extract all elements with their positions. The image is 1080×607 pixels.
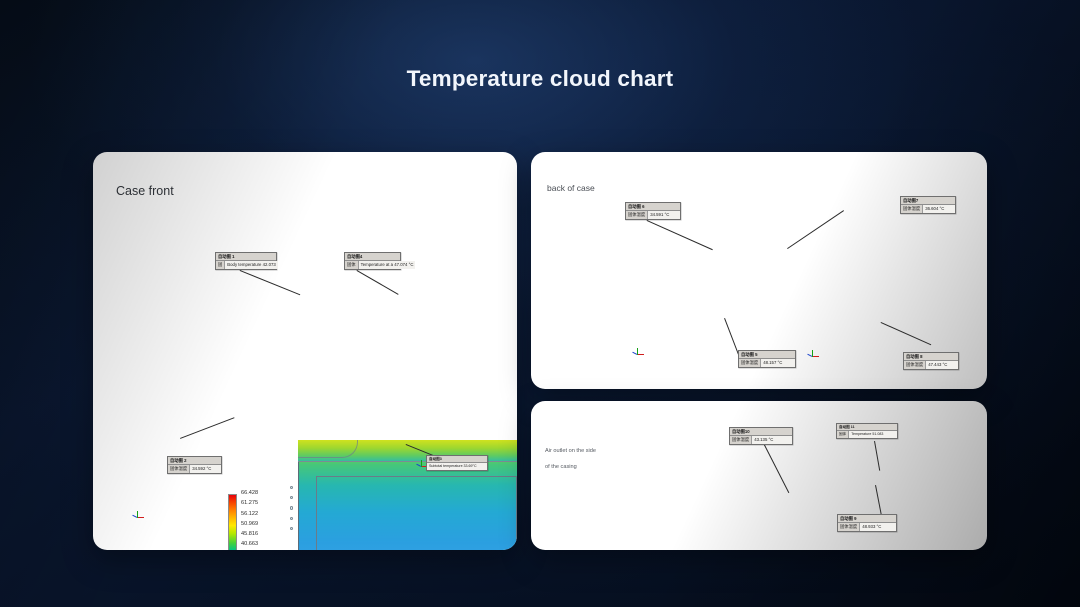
callout-probe-3[interactable]: 自动图3 Subtotal temperature 33.69°C — [426, 455, 488, 471]
leader-line — [357, 270, 399, 294]
tick-value: 61.275 — [241, 501, 258, 507]
panel-label-side-air-outlet: Air outlet on the side of the casing — [545, 443, 596, 475]
callout-title: 自动图 2 — [168, 457, 221, 465]
callout-title: 自动图4 — [345, 253, 400, 261]
callout-key: 固体温度 — [901, 205, 923, 212]
tick-value: 56.122 — [241, 512, 258, 518]
panel-back-of-case[interactable]: back of case 66.428 61.275 56.122 50.969… — [531, 152, 987, 389]
callout-value: 47.443 °C — [926, 361, 958, 368]
callout-key: 固体温度 — [730, 436, 752, 443]
callout-row: 固体温度 34.591 °C — [626, 211, 680, 218]
color-scale-ticks: 66.428 61.275 56.122 50.969 45.816 40.66… — [241, 491, 258, 550]
leader-line — [763, 441, 790, 493]
callout-key: 固体温度 — [739, 359, 761, 366]
callout-value: 48.933 °C — [860, 523, 896, 530]
callout-value: 34.592 °C — [190, 465, 221, 472]
panel-case-front[interactable]: Case front 66.428 61.275 56.122 50.969 4… — [93, 152, 517, 550]
callout-title: 自动图3 — [427, 456, 487, 463]
leader-line — [647, 220, 713, 250]
callout-probe-5[interactable]: 自动图 5 固体温度 48.157 °C — [738, 350, 796, 368]
callout-title: 自动图7 — [901, 197, 955, 205]
callout-row: 固体 Temperature at a 47.074 °C — [345, 261, 400, 268]
callout-key: 固体温度 — [168, 465, 190, 472]
callout-value: Subtotal temperature 33.69°C — [427, 463, 487, 469]
callout-row: 固体温度 48.933 °C — [838, 523, 896, 530]
callout-row: 固体 Temperature 51.083 — [837, 431, 897, 437]
callout-row: 固体温度 34.592 °C — [168, 465, 221, 472]
callout-probe-2[interactable]: 自动图 2 固体温度 34.592 °C — [167, 456, 222, 474]
callout-value: 48.157 °C — [761, 359, 795, 366]
callout-row: 固 Body temperature 42.073 — [216, 261, 276, 268]
callout-title: 自动图 1 — [216, 253, 276, 261]
callout-title: 自动图 6 — [626, 203, 680, 211]
callout-value: Temperature at a 47.074 °C — [359, 261, 416, 268]
axis-triad-back — [630, 346, 646, 362]
callout-row: Subtotal temperature 33.69°C — [427, 463, 487, 469]
callout-title: 自动图 9 — [838, 515, 896, 523]
inner-outline — [316, 476, 517, 550]
callout-title: 自动图 5 — [739, 351, 795, 359]
callout-value: Body temperature 42.073 — [225, 261, 278, 268]
tick-value: 40.663 — [241, 542, 258, 548]
callout-key: 固体 — [345, 261, 359, 268]
callout-key: 固体温度 — [626, 211, 648, 218]
tick-value: 50.969 — [241, 522, 258, 528]
callout-key: 固体 — [837, 431, 849, 437]
slide-canvas: Temperature cloud chart Case front 66.42… — [0, 0, 1080, 607]
callout-title: 自动图 8 — [904, 353, 958, 361]
axis-triad-front — [130, 509, 146, 525]
leader-line — [881, 322, 931, 345]
callout-probe-1[interactable]: 自动图 1 固 Body temperature 42.073 — [215, 252, 277, 270]
page-title: Temperature cloud chart — [0, 66, 1080, 92]
callout-probe-6[interactable]: 自动图 6 固体温度 34.591 °C — [625, 202, 681, 220]
callout-probe-7[interactable]: 自动图7 固体温度 36.604 °C — [900, 196, 956, 214]
tick-value: 66.428 — [241, 491, 258, 497]
callout-value: Temperature 51.083 — [849, 431, 897, 437]
callout-probe-9[interactable]: 自动图 9 固体温度 48.933 °C — [837, 514, 897, 532]
callout-row: 固体温度 36.604 °C — [901, 205, 955, 212]
callout-row: 固体温度 43.135 °C — [730, 436, 792, 443]
callout-value: 36.604 °C — [923, 205, 955, 212]
tick-value: 45.816 — [241, 532, 258, 538]
color-scale-bar — [228, 494, 237, 550]
callout-row: 固体温度 48.157 °C — [739, 359, 795, 366]
callout-key: 固体温度 — [838, 523, 860, 530]
callout-title: 自动图10 — [730, 428, 792, 436]
callout-probe-11[interactable]: 自动图 11 固体 Temperature 51.083 — [836, 423, 898, 439]
panel-label-back-of-case: back of case — [547, 180, 595, 196]
callout-key: 固 — [216, 261, 225, 268]
callout-probe-4[interactable]: 自动图4 固体 Temperature at a 47.074 °C — [344, 252, 401, 270]
callout-title: 自动图 11 — [837, 424, 897, 431]
leader-line — [787, 211, 844, 249]
callout-probe-10[interactable]: 自动图10 固体温度 43.135 °C — [729, 427, 793, 445]
callout-value: 43.135 °C — [752, 436, 792, 443]
callout-value: 34.591 °C — [648, 211, 680, 218]
leader-line — [875, 441, 881, 471]
panel-side-air-outlet[interactable]: Air outlet on the side of the casing 66.… — [531, 401, 987, 550]
leader-line — [876, 485, 883, 517]
callout-row: 固体温度 47.443 °C — [904, 361, 958, 368]
callout-key: 固体温度 — [904, 361, 926, 368]
leader-line — [180, 417, 234, 438]
panel-label-case-front: Case front — [116, 180, 174, 204]
mount-holes — [290, 486, 293, 537]
axis-triad-back-2 — [805, 348, 821, 364]
leader-line — [240, 270, 300, 295]
corner-fillet — [298, 440, 358, 458]
callout-probe-8[interactable]: 自动图 8 固体温度 47.443 °C — [903, 352, 959, 370]
